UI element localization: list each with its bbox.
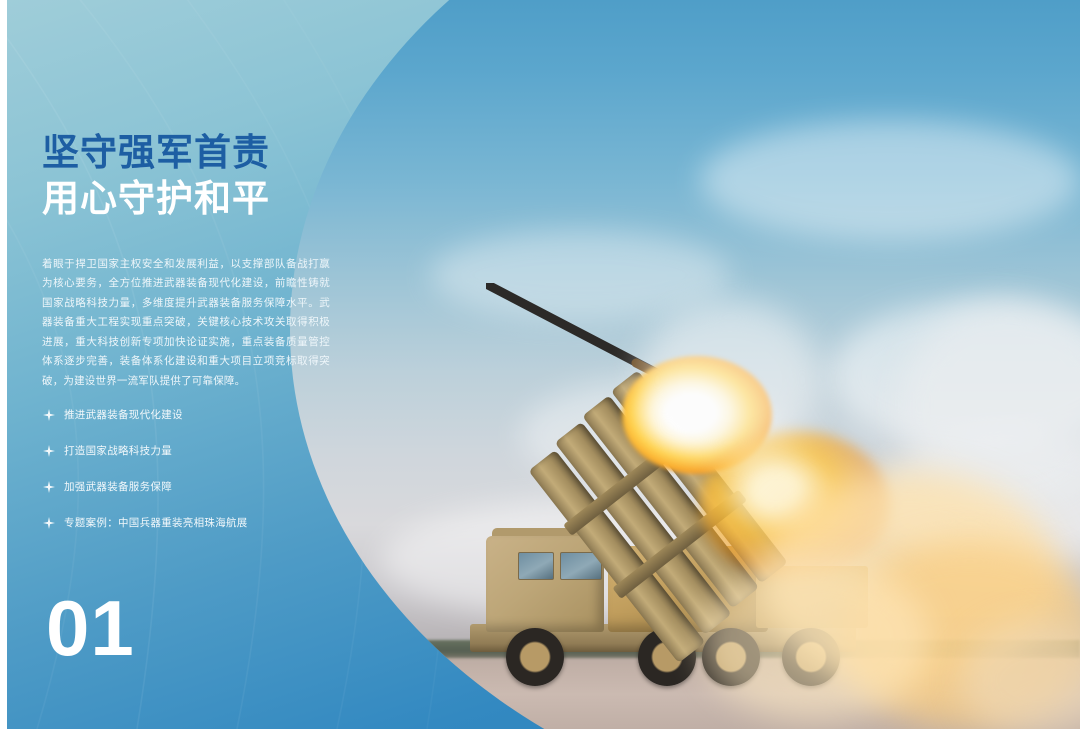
list-item-label: 专题案例：中国兵器重装亮相珠海航展 [64,517,248,529]
sparkle-icon [43,481,55,493]
smoke-plume [700,560,930,720]
sparkle-icon [43,517,55,529]
page-title-line-1: 坚守强军首责 [42,130,372,176]
left-white-margin [0,0,7,729]
smoke-plume [640,300,820,460]
list-item-label: 打造国家战略科技力量 [64,445,172,457]
truck-wheel [506,628,564,686]
poster-slide: 坚守强军首责 用心守护和平 着眼于捍卫国家主权安全和发展利益，以支撑部队备战打赢… [0,0,1080,729]
list-item[interactable]: 推进武器装备现代化建设 [42,408,372,422]
list-item[interactable]: 加强武器装备服务保障 [42,480,372,494]
list-item[interactable]: 打造国家战略科技力量 [42,444,372,458]
sparkle-icon [43,445,55,457]
list-item[interactable]: 专题案例：中国兵器重装亮相珠海航展 [42,516,372,530]
sparkle-icon [43,409,55,421]
section-number: 01 [46,589,135,667]
page-title: 坚守强军首责 用心守护和平 [42,130,372,222]
list-item-label: 加强武器装备服务保障 [64,481,172,493]
list-item-label: 推进武器装备现代化建设 [64,409,183,421]
text-column: 坚守强军首责 用心守护和平 着眼于捍卫国家主权安全和发展利益，以支撑部队备战打赢… [0,0,400,729]
bullet-list: 推进武器装备现代化建设 打造国家战略科技力量 加强武器装备服务保障 [42,408,372,552]
body-paragraph: 着眼于捍卫国家主权安全和发展利益，以支撑部队备战打赢为核心要务，全方位推进武器装… [42,255,330,392]
truck-window [518,552,554,580]
photo-cloud [700,120,1080,240]
page-title-line-2: 用心守护和平 [42,176,372,222]
